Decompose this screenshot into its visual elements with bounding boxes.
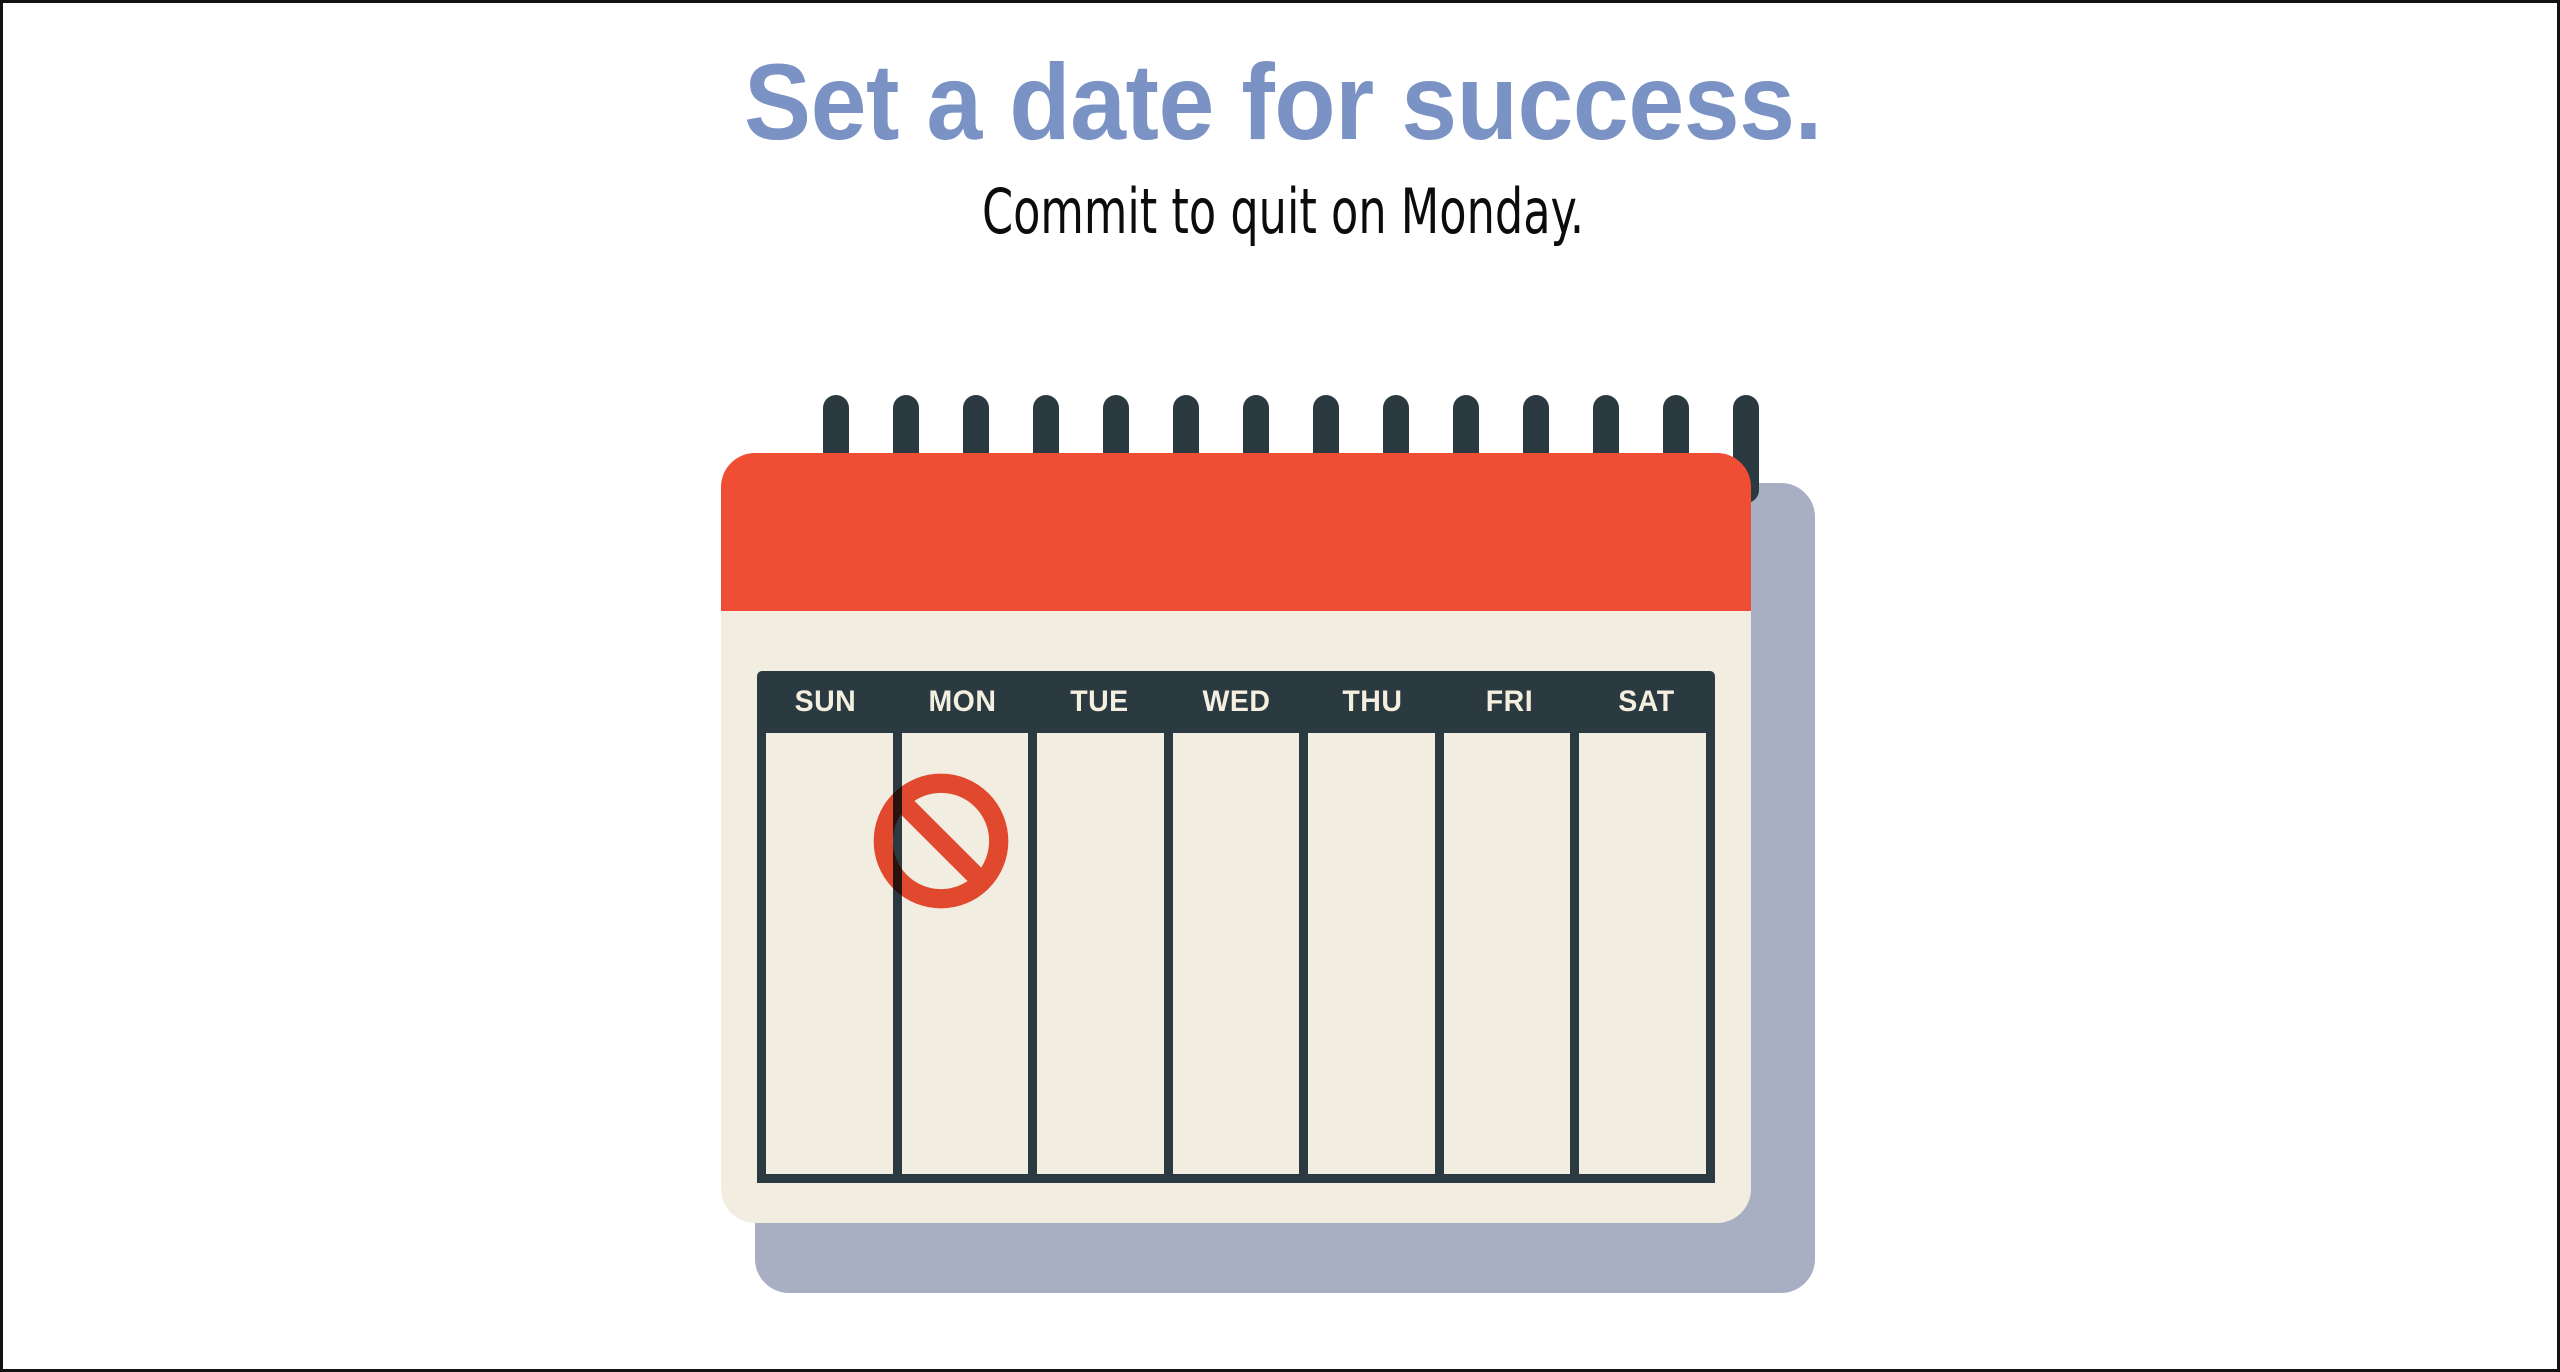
page-subtitle: Commit to quit on Monday. bbox=[259, 179, 2307, 244]
calendar-day-column-mon[interactable] bbox=[902, 733, 1038, 1174]
calendar-day-header-mon: MON bbox=[897, 671, 1027, 733]
headline-block: Set a date for success. Commit to quit o… bbox=[3, 47, 2560, 244]
calendar-day-header-fri: FRI bbox=[1445, 671, 1575, 733]
calendar-grid: SUNMONTUEWEDTHUFRISAT bbox=[757, 671, 1715, 1183]
calendar-illustration: SUNMONTUEWEDTHUFRISAT bbox=[703, 383, 1903, 1313]
calendar-day-header-sun: SUN bbox=[760, 671, 890, 733]
calendar-day-header-sat: SAT bbox=[1582, 671, 1712, 733]
calendar-day-header-thu: THU bbox=[1308, 671, 1438, 733]
page-title: Set a date for success. bbox=[93, 47, 2474, 157]
calendar-day-columns bbox=[757, 733, 1715, 1183]
calendar-day-column-tue[interactable] bbox=[1037, 733, 1173, 1174]
calendar-day-header-tue: TUE bbox=[1034, 671, 1164, 733]
calendar-day-column-fri[interactable] bbox=[1444, 733, 1580, 1174]
calendar-day-header-wed: WED bbox=[1171, 671, 1301, 733]
calendar-day-column-thu[interactable] bbox=[1308, 733, 1444, 1174]
calendar-day-column-sat[interactable] bbox=[1579, 733, 1706, 1174]
calendar-day-header-row: SUNMONTUEWEDTHUFRISAT bbox=[757, 671, 1715, 733]
calendar-day-column-sun[interactable] bbox=[766, 733, 902, 1174]
calendar-day-column-wed[interactable] bbox=[1173, 733, 1309, 1174]
poster-canvas: Set a date for success. Commit to quit o… bbox=[0, 0, 2560, 1372]
calendar-red-header-band bbox=[721, 453, 1751, 613]
